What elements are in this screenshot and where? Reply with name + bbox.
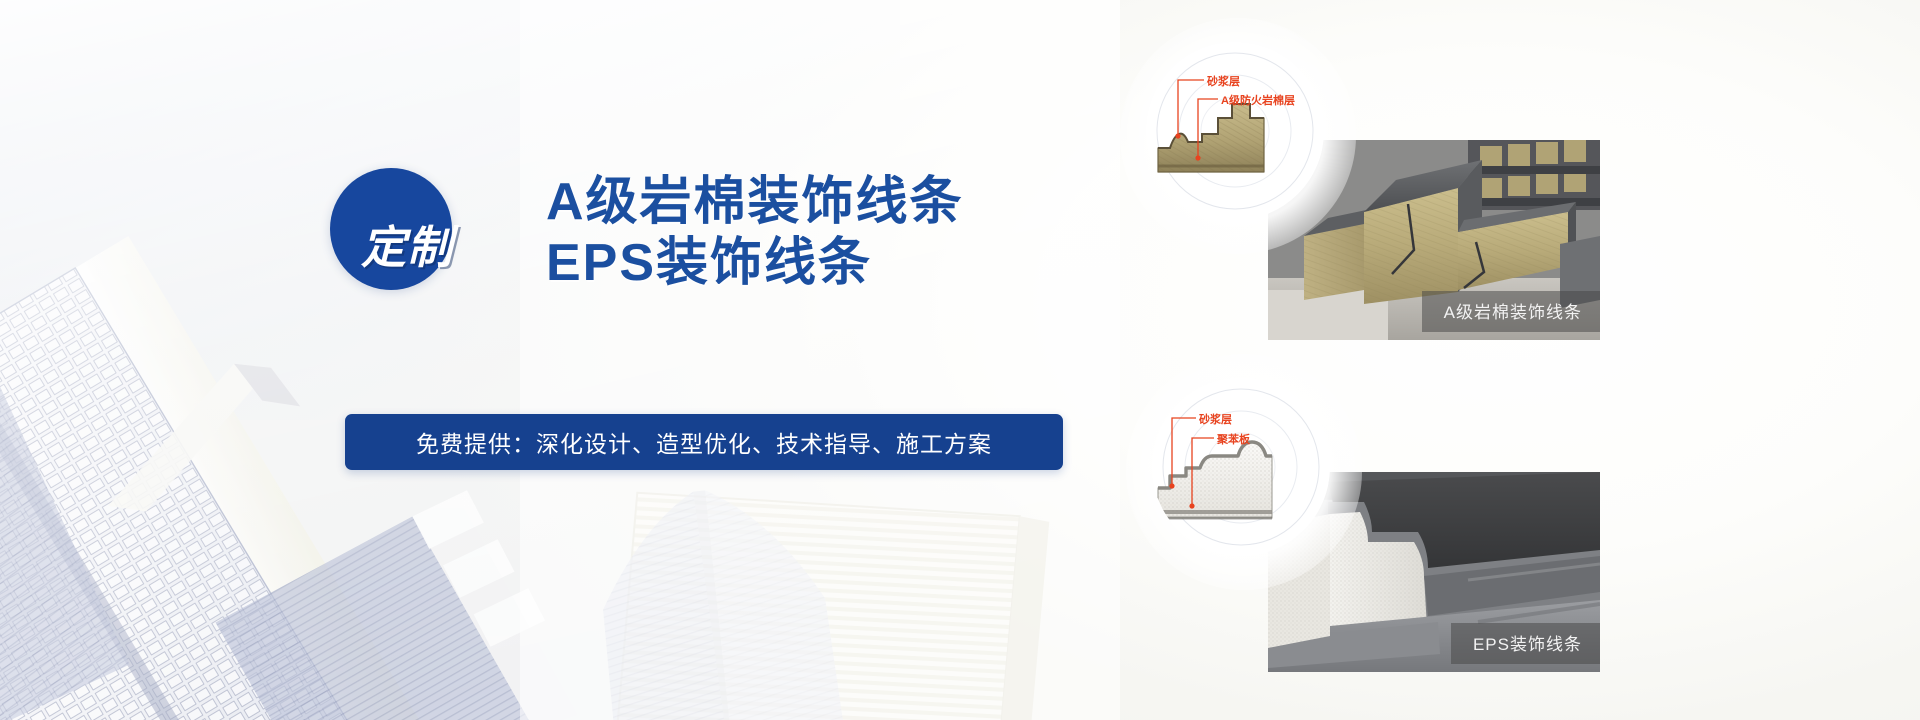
eps-label-core: 聚苯板	[1217, 431, 1250, 447]
rockwool-label-core: A级防火岩棉层	[1221, 92, 1295, 108]
callout-dot-icon	[1175, 133, 1180, 138]
product-caption-rockwool: A级岩棉装饰线条	[1422, 291, 1600, 332]
rockwool-label-mortar: 砂浆层	[1207, 73, 1240, 89]
eps-section-diagram: 砂浆层 聚苯板	[1152, 378, 1330, 556]
eps-label-mortar: 砂浆层	[1199, 411, 1232, 427]
custom-badge: 定制	[330, 168, 452, 290]
callout-dot-icon	[1169, 483, 1174, 488]
headline-line-1: A级岩棉装饰线条	[546, 172, 964, 233]
promo-banner: 定制 A级岩棉装饰线条 EPS装饰线条 免费提供：深化设计、造型优化、技术指导、…	[0, 0, 1920, 720]
custom-badge-label: 定制	[361, 211, 453, 276]
rockwool-section-diagram: 砂浆层 A级防火岩棉层	[1146, 42, 1324, 220]
free-services-banner: 免费提供：深化设计、造型优化、技术指导、施工方案	[345, 414, 1063, 470]
building-skyline-photo	[0, 0, 1120, 720]
callout-dot-icon	[1195, 155, 1200, 160]
callout-dot-icon	[1189, 503, 1194, 508]
free-services-text: 免费提供：深化设计、造型优化、技术指导、施工方案	[416, 425, 992, 459]
product-caption-eps: EPS装饰线条	[1451, 623, 1600, 664]
headline-line-2: EPS装饰线条	[546, 233, 964, 294]
page-title: A级岩棉装饰线条 EPS装饰线条	[546, 172, 964, 295]
